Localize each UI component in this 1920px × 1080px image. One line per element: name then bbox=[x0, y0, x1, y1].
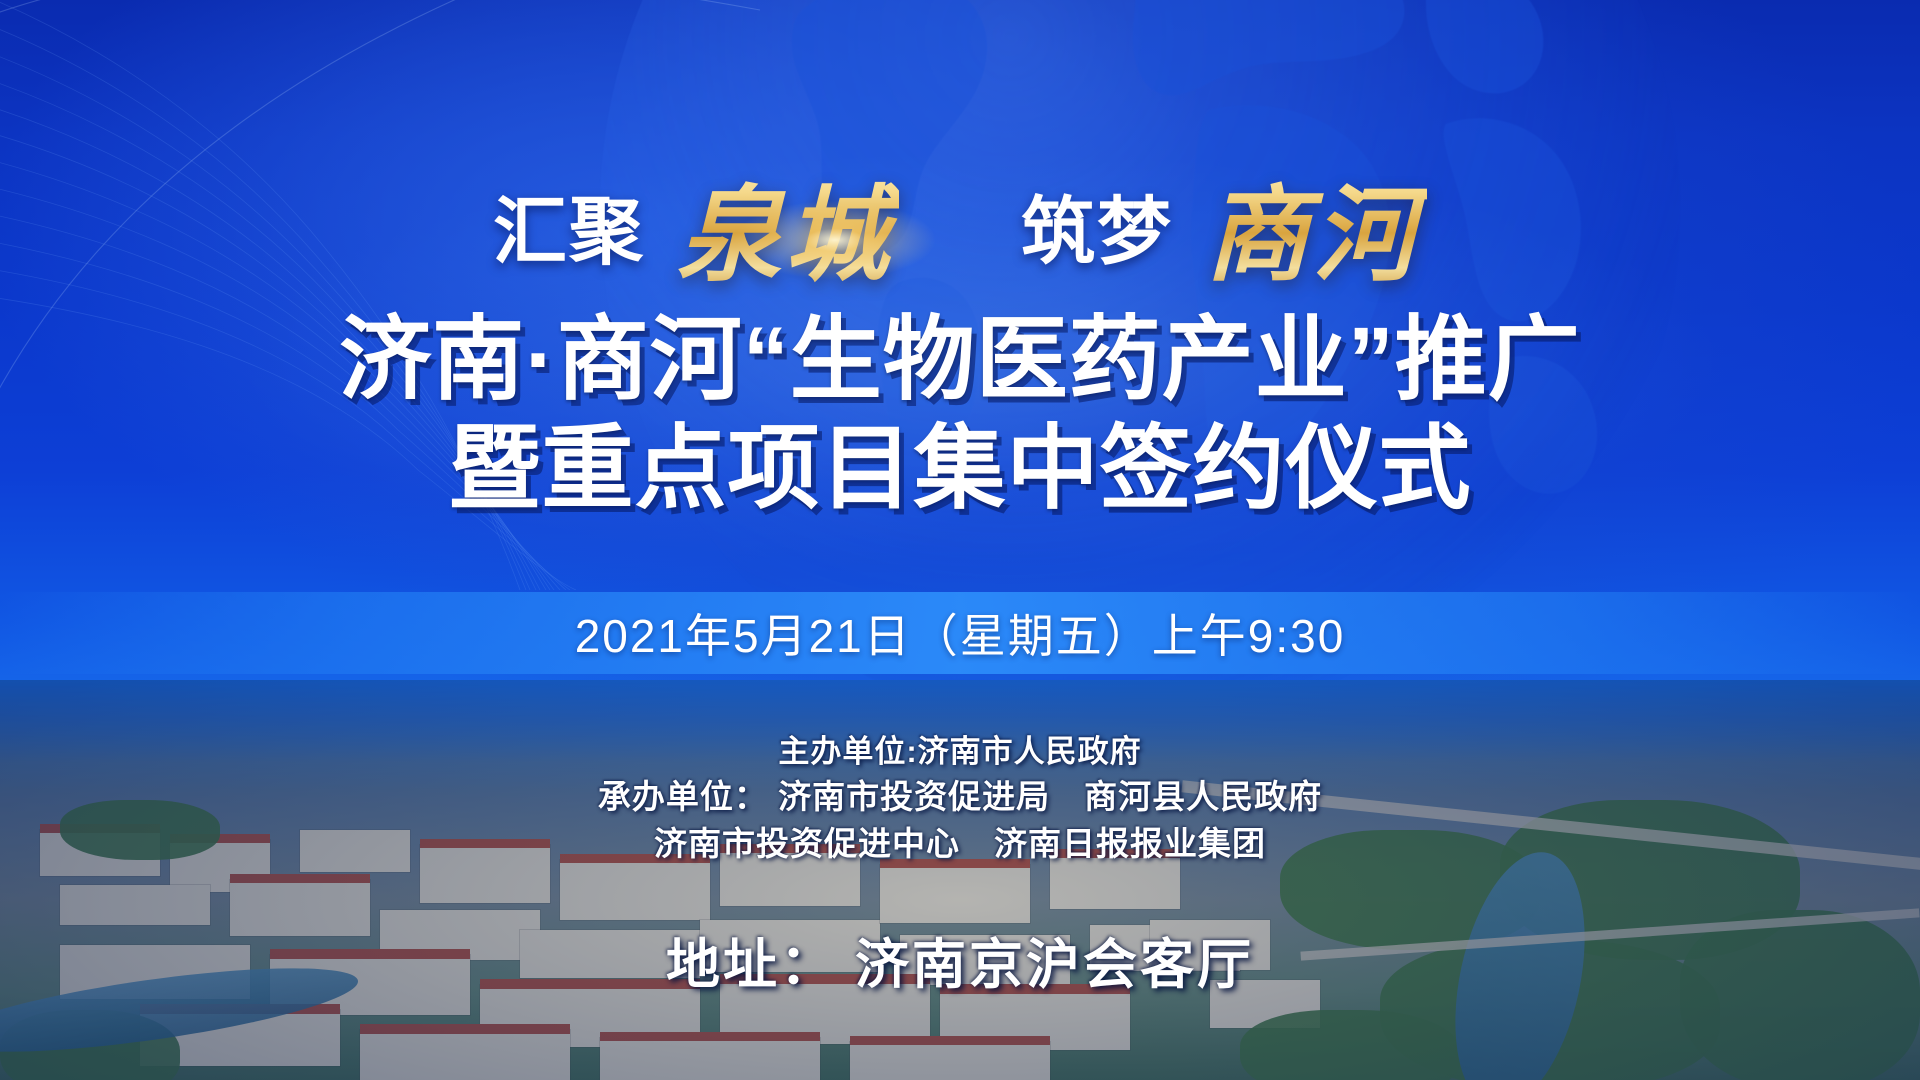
organizer-line-2: 承办单位： 济南市投资促进局 商河县人民政府 bbox=[0, 774, 1920, 821]
organizer-line-3: 济南市投资促进中心 济南日报报业集团 bbox=[0, 821, 1920, 868]
slogan-part2-white: 筑梦 bbox=[1021, 172, 1173, 279]
title-line-1: 济南·商河“生物医药产业”推广 bbox=[0, 306, 1920, 415]
slogan-part1-white: 汇聚 bbox=[493, 172, 645, 279]
organizer-line-1: 主办单位:济南市人民政府 bbox=[0, 730, 1920, 774]
event-banner: 汇聚 泉城 筑梦 商河 济南·商河“生物医药产业”推广 暨重点项目集中签约仪式 … bbox=[0, 0, 1920, 1080]
title-line-2: 暨重点项目集中签约仪式 bbox=[0, 415, 1920, 524]
slogan-part1-gold: 泉城 bbox=[671, 150, 899, 301]
slogan-part2-gold: 商河 bbox=[1199, 150, 1427, 301]
address-text: 地址： 济南京沪会客厅 bbox=[666, 935, 1254, 995]
organizers: 主办单位:济南市人民政府 承办单位： 济南市投资促进局 商河县人民政府 济南市投… bbox=[0, 730, 1920, 868]
datetime-bar: 2021年5月21日（星期五）上午9:30 bbox=[0, 592, 1920, 674]
slogan: 汇聚 泉城 筑梦 商河 bbox=[0, 150, 1920, 301]
datetime-text: 2021年5月21日（星期五）上午9:30 bbox=[575, 600, 1346, 666]
page-title: 济南·商河“生物医药产业”推广 暨重点项目集中签约仪式 bbox=[0, 306, 1920, 523]
address: 地址： 济南京沪会客厅 bbox=[0, 920, 1920, 999]
